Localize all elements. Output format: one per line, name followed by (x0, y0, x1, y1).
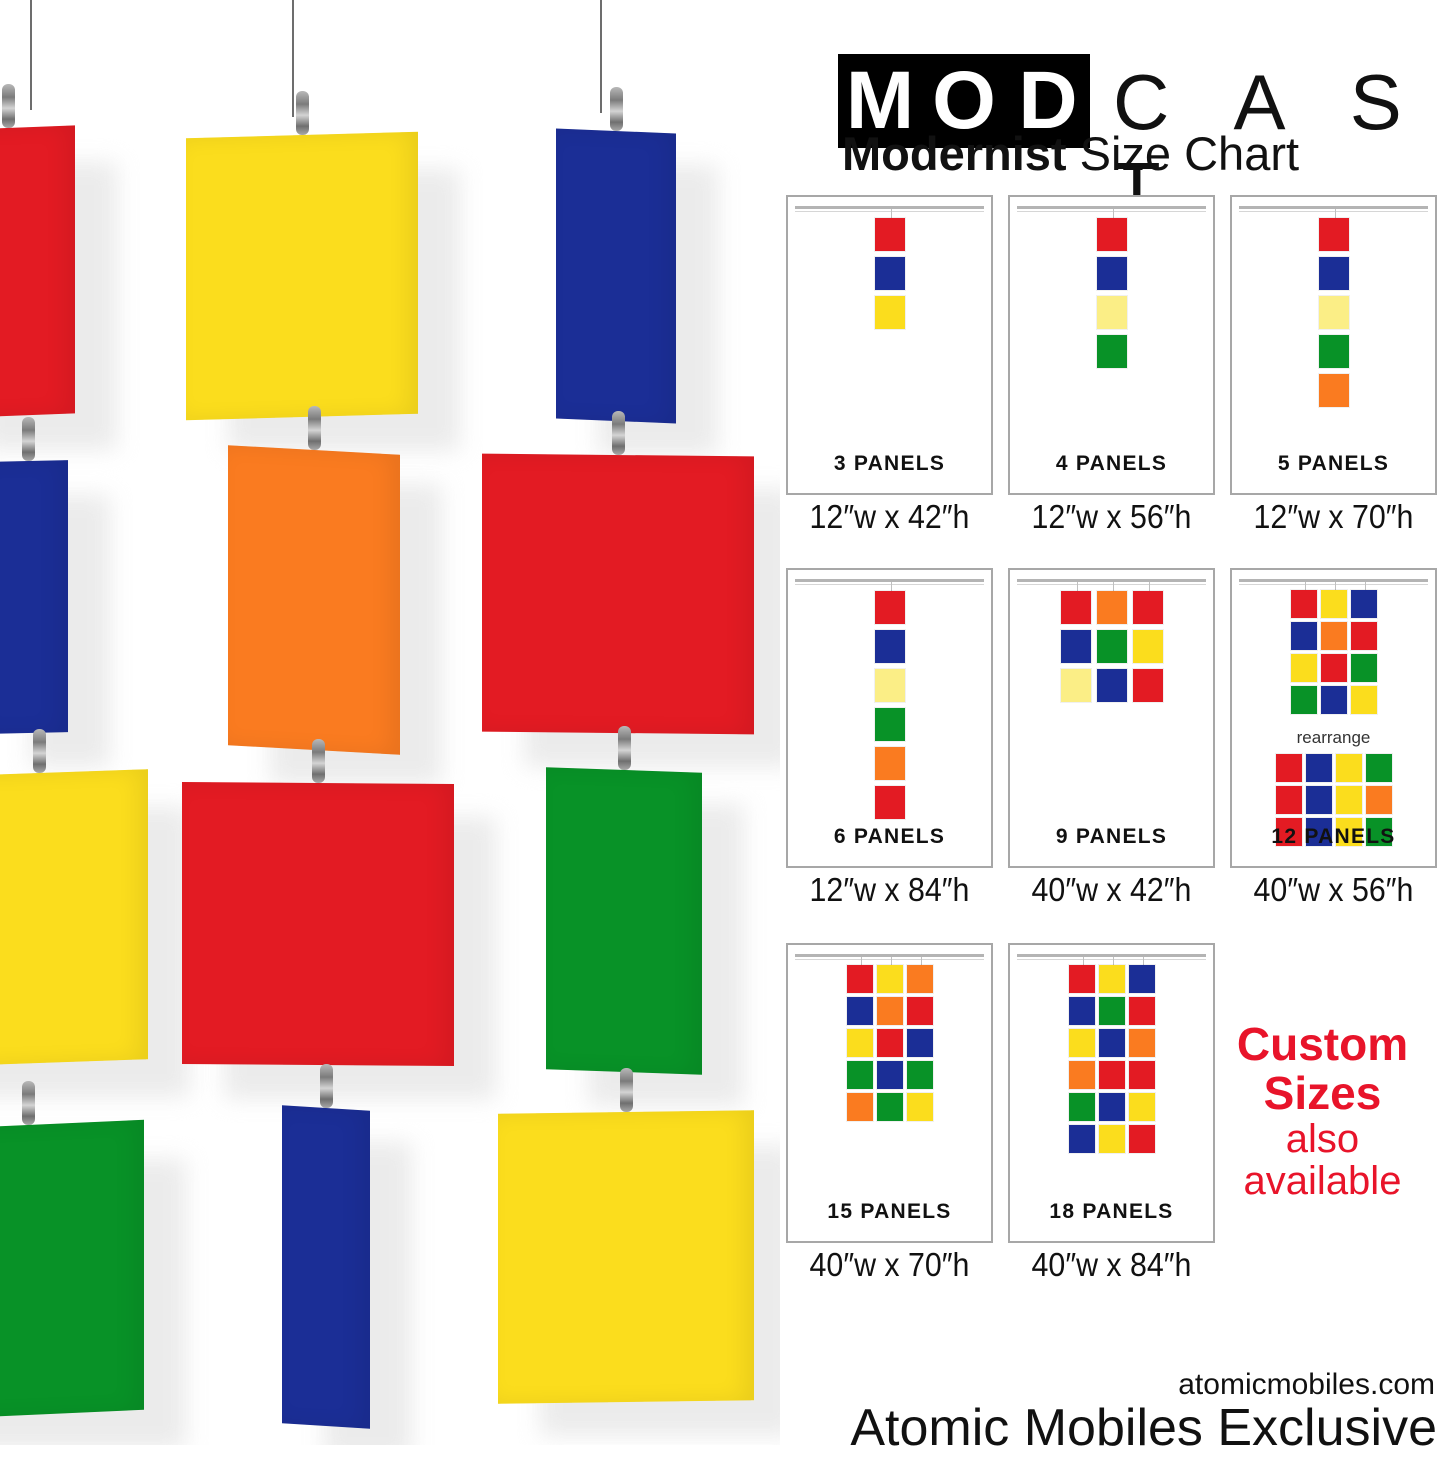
panel-swatch-blue (1351, 590, 1377, 618)
panel-swatch-yellow (1133, 630, 1163, 663)
panel-swatch-lightyellow (1319, 296, 1349, 329)
panel-swatch-red (1321, 654, 1347, 682)
panel-swatch-yellow (1291, 654, 1317, 682)
panel-swatch-green (907, 1061, 933, 1089)
size-card-6-panels[interactable]: 6 PANELS (786, 568, 993, 868)
mobile-panel-red (482, 454, 754, 735)
mobile-photograph (0, 0, 780, 1445)
panel-swatch-yellow (1336, 754, 1362, 782)
panel-swatch-orange (1319, 374, 1349, 407)
panel-swatch-green (1319, 335, 1349, 368)
swivel-connector (2, 84, 15, 128)
panel-swatch-row (1067, 1027, 1157, 1059)
panel-swatch-red (875, 591, 905, 624)
mobile-panel-blue (282, 1105, 370, 1429)
panel-swatch-orange (1097, 591, 1127, 624)
hanging-rod-shadow (795, 211, 984, 212)
panel-swatch-red (875, 786, 905, 819)
panel-swatch-grid (1232, 588, 1435, 716)
panel-swatch-yellow (877, 965, 903, 993)
mobile-panel-blue (556, 128, 676, 423)
swivel-connector (618, 726, 631, 770)
panel-swatch-row (1067, 1059, 1157, 1091)
panel-swatch-grid (1010, 963, 1213, 1155)
card-panel-count-label: 3 PANELS (788, 452, 991, 476)
panel-swatch-row (845, 963, 935, 995)
panel-swatch-row (1274, 784, 1394, 816)
hanging-rod (1239, 206, 1428, 209)
subtitle-bold: Modernist (842, 127, 1067, 180)
panel-swatch-green (847, 1061, 873, 1089)
panel-swatch-row (1067, 1091, 1157, 1123)
panel-swatch-orange (877, 997, 903, 1025)
panel-swatch-row (872, 705, 908, 744)
panel-swatch-row (1067, 963, 1157, 995)
panel-swatch-blue (1097, 257, 1127, 290)
card-dimension-label: 12″w x 56″h (1016, 498, 1206, 536)
panel-swatch-grid (788, 963, 991, 1123)
size-card-12-panels[interactable]: rearrange12 PANELS (1230, 568, 1437, 868)
hanging-rod (795, 954, 984, 957)
panel-swatch-blue (1069, 1125, 1095, 1153)
panel-swatch-blue (1099, 1029, 1125, 1057)
panel-swatch-green (1291, 686, 1317, 714)
card-dimension-label: 40″w x 42″h (1016, 871, 1206, 909)
panel-swatch-yellow (1099, 1125, 1125, 1153)
panel-swatch-grid (1232, 215, 1435, 410)
card-panel-count-label: 5 PANELS (1232, 452, 1435, 476)
panel-swatch-orange (1366, 786, 1392, 814)
hanging-wire (600, 0, 602, 113)
hanging-rod-shadow (1017, 211, 1206, 212)
hanging-rod-shadow (1017, 584, 1206, 585)
website-url: atomicmobiles.com (1178, 1368, 1435, 1402)
swivel-connector (320, 1064, 333, 1108)
panel-swatch-red (1351, 622, 1377, 650)
custom-line-1: Custom (1200, 1020, 1445, 1069)
panel-swatch-blue (1306, 754, 1332, 782)
panel-swatch-blue (875, 630, 905, 663)
panel-swatch-lightyellow (1061, 669, 1091, 702)
panel-swatch-blue (1306, 786, 1332, 814)
panel-swatch-green (875, 708, 905, 741)
panel-swatch-green (1097, 335, 1127, 368)
panel-swatch-row (1094, 293, 1130, 332)
panel-swatch-row (1289, 684, 1379, 716)
hanging-rod-shadow (795, 959, 984, 960)
panel-swatch-lightyellow (1097, 296, 1127, 329)
panel-swatch-row (1094, 332, 1130, 371)
card-dimension-label: 12″w x 84″h (794, 871, 984, 909)
panel-swatch-row (872, 744, 908, 783)
swivel-connector (33, 729, 46, 773)
panel-swatch-blue (1099, 1093, 1125, 1121)
mobile-panel-red (182, 782, 454, 1066)
panel-swatch-row (1316, 332, 1352, 371)
panel-swatch-grid (788, 588, 991, 822)
panel-swatch-row (1058, 627, 1166, 666)
panel-swatch-red (1319, 218, 1349, 251)
panel-swatch-blue (1069, 997, 1095, 1025)
hanging-rod (1017, 579, 1206, 582)
swivel-connector (312, 739, 325, 783)
custom-line-4: available (1200, 1160, 1445, 1202)
panel-swatch-row (845, 995, 935, 1027)
panel-swatch-green (1351, 654, 1377, 682)
panel-swatch-blue (1291, 622, 1317, 650)
panel-swatch-row (1058, 588, 1166, 627)
panel-swatch-row (872, 588, 908, 627)
panel-swatch-row (1289, 588, 1379, 620)
mobile-panel-orange (228, 445, 400, 755)
panel-swatch-row (872, 215, 908, 254)
panel-swatch-row (1067, 1123, 1157, 1155)
hanging-wire (292, 0, 294, 117)
panel-swatch-red (1276, 786, 1302, 814)
panel-swatch-row (1094, 254, 1130, 293)
panel-swatch-red (1129, 1125, 1155, 1153)
panel-swatch-blue (1321, 686, 1347, 714)
panel-swatch-orange (1129, 1029, 1155, 1057)
panel-swatch-yellow (1336, 786, 1362, 814)
panel-swatch-orange (907, 965, 933, 993)
card-panel-count-label: 6 PANELS (788, 825, 991, 849)
panel-swatch-red (1099, 1061, 1125, 1089)
hanging-rod-shadow (1239, 584, 1428, 585)
panel-swatch-blue (875, 257, 905, 290)
panel-swatch-blue (1129, 965, 1155, 993)
panel-swatch-orange (1321, 622, 1347, 650)
card-panel-count-label: 12 PANELS (1232, 825, 1435, 849)
panel-swatch-orange (847, 1093, 873, 1121)
panel-swatch-red (1276, 754, 1302, 782)
mobile-panel-yellow (0, 769, 148, 1067)
panel-swatch-row (1289, 652, 1379, 684)
hanging-rod (1239, 579, 1428, 582)
mobile-panel-red (0, 125, 75, 418)
hanging-rod (1017, 206, 1206, 209)
swivel-connector (22, 417, 35, 461)
card-dimension-label: 12″w x 42″h (794, 498, 984, 536)
card-dimension-label: 12″w x 70″h (1238, 498, 1428, 536)
panel-swatch-red (1129, 997, 1155, 1025)
modcast-logo: MOD C A S T (808, 28, 1428, 123)
panel-swatch-yellow (875, 296, 905, 329)
size-card-5-panels[interactable]: 5 PANELS (1230, 195, 1437, 495)
panel-swatch-blue (907, 1029, 933, 1057)
footer-tagline: Atomic Mobiles Exclusive (850, 1398, 1437, 1458)
hanging-rod (795, 206, 984, 209)
panel-swatch-green (1366, 754, 1392, 782)
mobile-panel-yellow (498, 1110, 754, 1404)
card-dimension-label: 40″w x 56″h (1238, 871, 1428, 909)
subtitle-rest: Size Chart (1067, 127, 1299, 180)
panel-swatch-blue (877, 1061, 903, 1089)
panel-swatch-red (877, 1029, 903, 1057)
hanging-rod-shadow (1017, 959, 1206, 960)
panel-swatch-row (845, 1027, 935, 1059)
custom-line-3: also (1200, 1118, 1445, 1160)
panel-swatch-yellow (1099, 965, 1125, 993)
custom-sizes-note: Custom Sizes also available (1200, 1020, 1445, 1202)
panel-swatch-row (872, 783, 908, 822)
hanging-rod (1017, 954, 1206, 957)
swivel-connector (308, 406, 321, 450)
swivel-connector (610, 87, 623, 131)
panel-swatch-row (1067, 995, 1157, 1027)
page-title: Modernist Size Chart (842, 126, 1299, 182)
panel-swatch-row (1316, 215, 1352, 254)
panel-swatch-row (872, 666, 908, 705)
panel-swatch-orange (875, 747, 905, 780)
size-card-3-panels[interactable]: 3 PANELS (786, 195, 993, 495)
swivel-connector (296, 91, 309, 135)
mobile-panel-yellow (186, 132, 418, 420)
panel-swatch-row (1094, 215, 1130, 254)
panel-swatch-yellow (1069, 1029, 1095, 1057)
panel-swatch-red (1061, 591, 1091, 624)
panel-swatch-grid (1010, 215, 1213, 371)
panel-swatch-red (1133, 591, 1163, 624)
panel-swatch-red (1069, 965, 1095, 993)
hanging-rod (795, 579, 984, 582)
panel-swatch-row (1316, 371, 1352, 410)
panel-swatch-red (1291, 590, 1317, 618)
custom-line-2: Sizes (1200, 1069, 1445, 1118)
panel-swatch-row (845, 1091, 935, 1123)
size-card-15-panels[interactable]: 15 PANELS (786, 943, 993, 1243)
panel-swatch-blue (1319, 257, 1349, 290)
card-panel-count-label: 18 PANELS (1010, 1200, 1213, 1224)
card-dimension-label: 40″w x 70″h (794, 1246, 984, 1284)
panel-swatch-row (1316, 254, 1352, 293)
panel-swatch-yellow (907, 1093, 933, 1121)
panel-swatch-red (1129, 1061, 1155, 1089)
panel-swatch-yellow (847, 1029, 873, 1057)
mobile-panel-blue (0, 460, 68, 734)
panel-swatch-blue (1061, 630, 1091, 663)
size-card-9-panels[interactable]: 9 PANELS (1008, 568, 1215, 868)
panel-swatch-grid (788, 215, 991, 332)
swivel-connector (22, 1081, 35, 1125)
panel-swatch-green (1097, 630, 1127, 663)
card-panel-count-label: 4 PANELS (1010, 452, 1213, 476)
mobile-panel-green (546, 767, 702, 1074)
swivel-connector (620, 1068, 633, 1112)
panel-swatch-yellow (1129, 1093, 1155, 1121)
panel-swatch-orange (1069, 1061, 1095, 1089)
panel-swatch-blue (1097, 669, 1127, 702)
panel-swatch-grid (1010, 588, 1213, 705)
panel-swatch-row (1316, 293, 1352, 332)
panel-swatch-row (872, 254, 908, 293)
panel-swatch-row (872, 627, 908, 666)
panel-swatch-row (1058, 666, 1166, 705)
panel-swatch-red (1133, 669, 1163, 702)
panel-swatch-row (1289, 620, 1379, 652)
size-chart-panel: MOD C A S T Modernist Size Chart 3 PANEL… (780, 0, 1445, 1445)
panel-swatch-lightyellow (875, 669, 905, 702)
hanging-rod-shadow (1239, 211, 1428, 212)
panel-swatch-red (907, 997, 933, 1025)
rearrange-label: rearrange (1232, 728, 1435, 748)
swivel-connector (612, 411, 625, 455)
panel-swatch-green (1069, 1093, 1095, 1121)
hanging-wire (30, 0, 32, 110)
panel-swatch-red (1097, 218, 1127, 251)
panel-swatch-yellow (1351, 686, 1377, 714)
panel-swatch-yellow (1321, 590, 1347, 618)
size-card-4-panels[interactable]: 4 PANELS (1008, 195, 1215, 495)
hanging-rod-shadow (795, 584, 984, 585)
card-panel-count-label: 15 PANELS (788, 1200, 991, 1224)
panel-swatch-green (877, 1093, 903, 1121)
panel-swatch-red (875, 218, 905, 251)
panel-swatch-green (1099, 997, 1125, 1025)
panel-swatch-row (872, 293, 908, 332)
card-dimension-label: 40″w x 84″h (1016, 1246, 1206, 1284)
panel-swatch-row (845, 1059, 935, 1091)
mobile-panel-green (0, 1120, 144, 1421)
size-card-18-panels[interactable]: 18 PANELS (1008, 943, 1215, 1243)
card-panel-count-label: 9 PANELS (1010, 825, 1213, 849)
panel-swatch-blue (847, 997, 873, 1025)
panel-swatch-red (847, 965, 873, 993)
panel-swatch-row (1274, 752, 1394, 784)
